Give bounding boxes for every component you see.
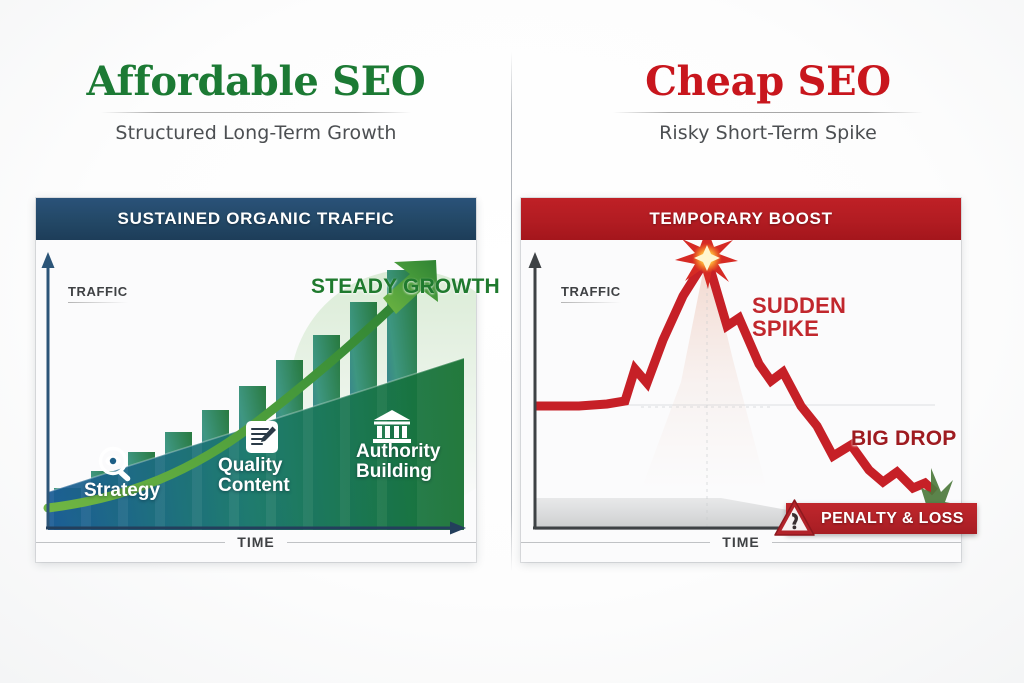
stage-label-strategy: Strategy: [84, 481, 160, 501]
left-title-block: Affordable SEO Structured Long-Term Grow…: [0, 62, 512, 144]
right-y-axis-label: TRAFFIC: [561, 284, 621, 303]
right-title-block: Cheap SEO Risky Short-Term Spike: [512, 62, 1024, 144]
stage-label-authority-building: Authority Building: [356, 442, 440, 482]
right-subtitle: Risky Short-Term Spike: [512, 122, 1024, 144]
left-main-title: Affordable SEO: [0, 62, 512, 102]
infographic-stage: Affordable SEO Structured Long-Term Grow…: [0, 0, 1024, 683]
right-main-title: Cheap SEO: [512, 62, 1024, 102]
starburst-icon: [675, 240, 738, 289]
left-banner: SUSTAINED ORGANIC TRAFFIC: [36, 198, 476, 240]
sudden-spike-annotation: SUDDEN SPIKE: [752, 295, 846, 340]
left-chart-card: SUSTAINED ORGANIC TRAFFIC: [36, 198, 476, 562]
left-title-rule: [101, 112, 411, 113]
stage-label-quality-content: Quality Content: [218, 456, 290, 496]
right-x-axis-label: TIME: [521, 533, 961, 551]
big-drop-annotation: BIG DROP: [851, 428, 956, 450]
left-y-axis-label: TRAFFIC: [68, 284, 128, 303]
warning-triangle-icon: [773, 497, 816, 545]
left-x-axis-label: TIME: [36, 533, 476, 551]
left-subtitle: Structured Long-Term Growth: [0, 122, 512, 144]
panel-affordable-seo: Affordable SEO Structured Long-Term Grow…: [0, 0, 512, 683]
penalty-loss-label: PENALTY & LOSS: [821, 510, 964, 528]
right-title-rule: [613, 112, 923, 113]
steady-growth-annotation: STEADY GROWTH: [311, 276, 500, 298]
right-banner: TEMPORARY BOOST: [521, 198, 961, 240]
